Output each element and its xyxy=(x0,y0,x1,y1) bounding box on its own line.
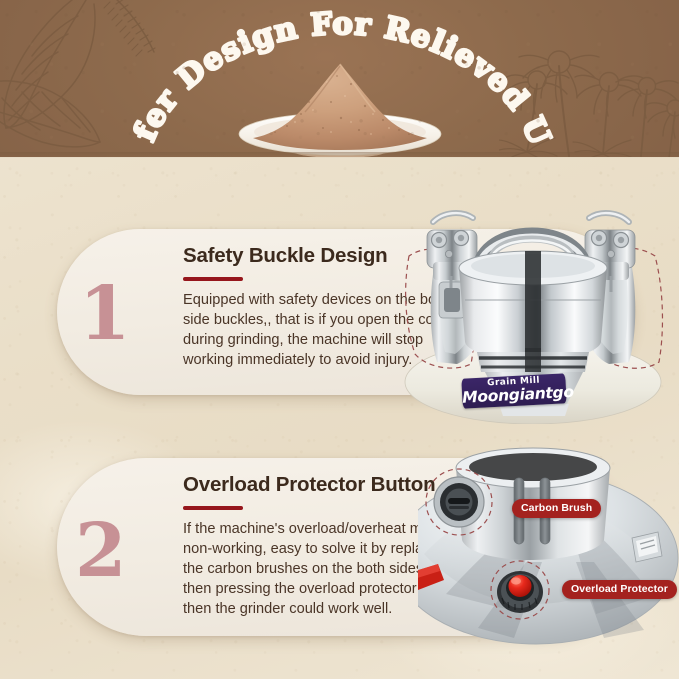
feature-number-2: 2 xyxy=(75,514,127,588)
callout-carbon-brush: Carbon Brush xyxy=(512,499,601,518)
header-edge-shadow xyxy=(0,152,679,158)
title-rule-2 xyxy=(183,506,243,510)
infographic-page: Safer Design For Relieved Use xyxy=(0,0,679,679)
feature-number-1: 1 xyxy=(79,277,131,351)
brand-badge: Grain Mill Moongiantgo xyxy=(461,373,566,408)
title-rule-1 xyxy=(183,277,243,281)
echinacea-flowers-line-art-icon xyxy=(499,44,679,157)
callout-overload-protector: Overload Protector xyxy=(562,580,677,599)
svg-text:Safer Design For Relieved Use: Safer Design For Relieved Use xyxy=(0,0,558,151)
grain-mill-base-image xyxy=(418,432,679,647)
header-band: Safer Design For Relieved Use xyxy=(0,0,679,157)
leaf-line-art-icon xyxy=(0,0,172,157)
arc-title-text: Safer Design For Relieved Use xyxy=(0,0,558,151)
arc-title: Safer Design For Relieved Use xyxy=(0,0,679,157)
powder-bowl-image xyxy=(231,58,449,157)
